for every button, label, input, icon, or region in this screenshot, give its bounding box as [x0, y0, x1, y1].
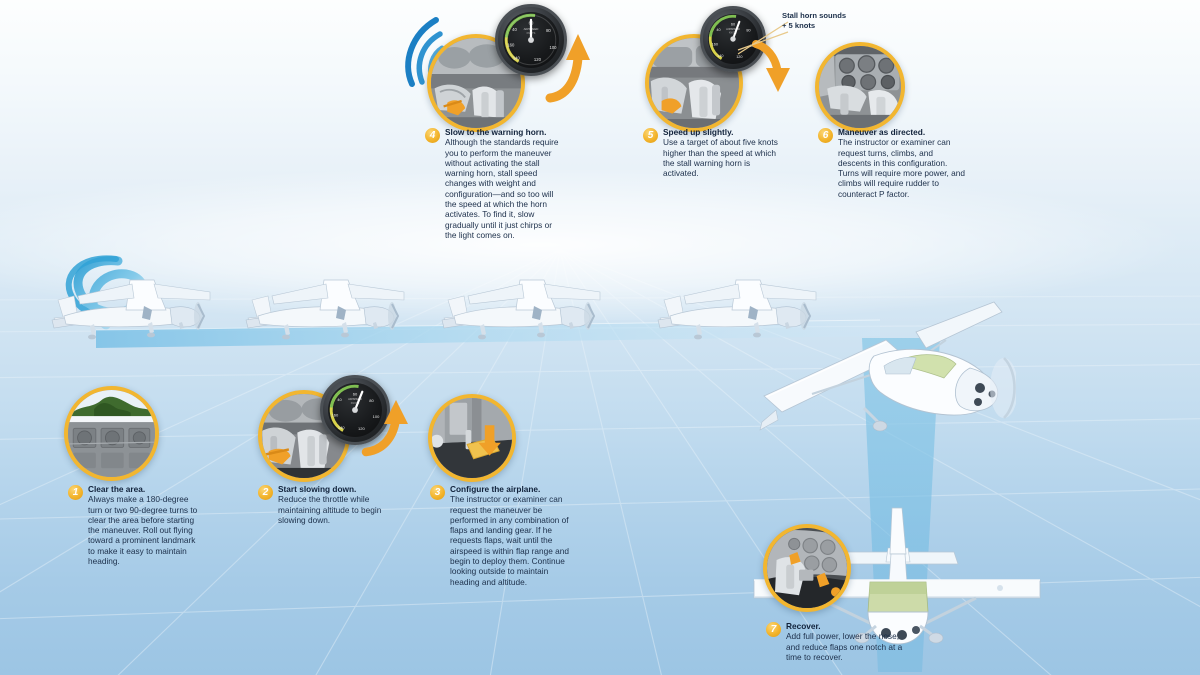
step-6-text: The instructor or examiner can request t… [838, 137, 968, 199]
aircraft-sequence-3 [424, 266, 614, 358]
svg-text:120: 120 [358, 426, 365, 431]
step-3-text: The instructor or examiner can request t… [450, 494, 570, 587]
svg-text:160: 160 [712, 42, 718, 46]
step-1-title: Clear the area. [88, 484, 203, 494]
step-2-title: Start slowing down. [278, 484, 398, 494]
horizon-glow [0, 170, 1200, 320]
step-6-photo-circle [815, 42, 905, 132]
step-7: 7 Recover. Add full power, lower the nos… [766, 621, 906, 662]
step-2: 2 Start slowing down. Reduce the throttl… [258, 484, 398, 525]
step-1-text: Always make a 180-degree turn or two 90-… [88, 494, 203, 566]
airspeed-indicator-step4: 40 60 80 100 120 140 160 AIRSPEED KNOTS [495, 4, 567, 76]
step-5-badge: 5 [643, 128, 658, 143]
aircraft-sequence-2 [228, 266, 418, 358]
svg-text:100: 100 [750, 44, 756, 48]
step-3: 3 Configure the airplane. The instructor… [430, 484, 570, 587]
step-6-badge: 6 [818, 128, 833, 143]
svg-text:140: 140 [338, 425, 345, 430]
step-4-text: Although the standards require you to pe… [445, 137, 565, 240]
svg-text:140: 140 [513, 55, 521, 60]
step-1-badge: 1 [68, 485, 83, 500]
instrument-panel-yoke-photo [819, 46, 901, 128]
svg-text:60: 60 [731, 22, 735, 26]
stall-horn-annotation: Stall horn sounds + 5 knots [782, 11, 846, 31]
infographic-canvas: 40 60 80 100 120 140 160 AIRSPEED KNOTS [0, 0, 1200, 675]
step-5: 5 Speed up slightly. Use a target of abo… [643, 127, 783, 178]
step-6-title: Maneuver as directed. [838, 127, 968, 137]
step-3-title: Configure the airplane. [450, 484, 570, 494]
aircraft-descending [756, 296, 1016, 486]
flight-path-ribbons [0, 0, 1200, 675]
flap-lever-photo [432, 398, 512, 478]
svg-text:80: 80 [546, 28, 551, 33]
svg-text:160: 160 [332, 412, 339, 417]
svg-text:80: 80 [369, 398, 374, 403]
svg-text:160: 160 [507, 42, 515, 47]
svg-text:40: 40 [716, 28, 720, 32]
stall-horn-line-2: + 5 knots [782, 21, 846, 31]
step-1: 1 Clear the area. Always make a 180-degr… [68, 484, 203, 566]
svg-text:80: 80 [746, 29, 750, 33]
step-6: 6 Maneuver as directed. The instructor o… [818, 127, 968, 199]
svg-text:120: 120 [736, 55, 742, 59]
aircraft-sequence-1 [34, 266, 224, 358]
svg-text:60: 60 [353, 391, 358, 396]
step-2-text: Reduce the throttle while maintaining al… [278, 494, 398, 525]
step-1-photo-circle [64, 386, 159, 481]
perspective-grid [0, 0, 1200, 675]
step-7-badge: 7 [766, 622, 781, 637]
cockpit-recover-photo [767, 528, 847, 608]
svg-text:40: 40 [512, 27, 517, 32]
step-4-title: Slow to the warning horn. [445, 127, 565, 137]
aircraft-sequence-4 [640, 266, 830, 358]
horizon-over-panel-photo [68, 390, 155, 477]
step-5-text: Use a target of about five knots higher … [663, 137, 783, 178]
step-4: 4 Slow to the warning horn. Although the… [425, 127, 565, 240]
step-5-title: Speed up slightly. [663, 127, 783, 137]
svg-text:100: 100 [549, 45, 557, 50]
step-2-badge: 2 [258, 485, 273, 500]
airspeed-indicator-step2: 40 60 80 100 120 140 160 AIRSPEED KNOTS [320, 375, 390, 445]
step-3-badge: 3 [430, 485, 445, 500]
step-7-text: Add full power, lower the nose, and redu… [786, 631, 906, 662]
step-4-badge: 4 [425, 128, 440, 143]
stall-horn-line-1: Stall horn sounds [782, 11, 846, 21]
svg-text:120: 120 [534, 57, 542, 62]
svg-text:140: 140 [717, 54, 723, 58]
svg-text:100: 100 [373, 414, 380, 419]
step-7-photo-circle [763, 524, 851, 612]
step-7-title: Recover. [786, 621, 906, 631]
step-3-photo-circle [428, 394, 516, 482]
svg-text:40: 40 [337, 397, 342, 402]
airspeed-indicator-step5: 40 60 80 100 120 140 160 AIRSPEED KNOTS [700, 6, 766, 72]
